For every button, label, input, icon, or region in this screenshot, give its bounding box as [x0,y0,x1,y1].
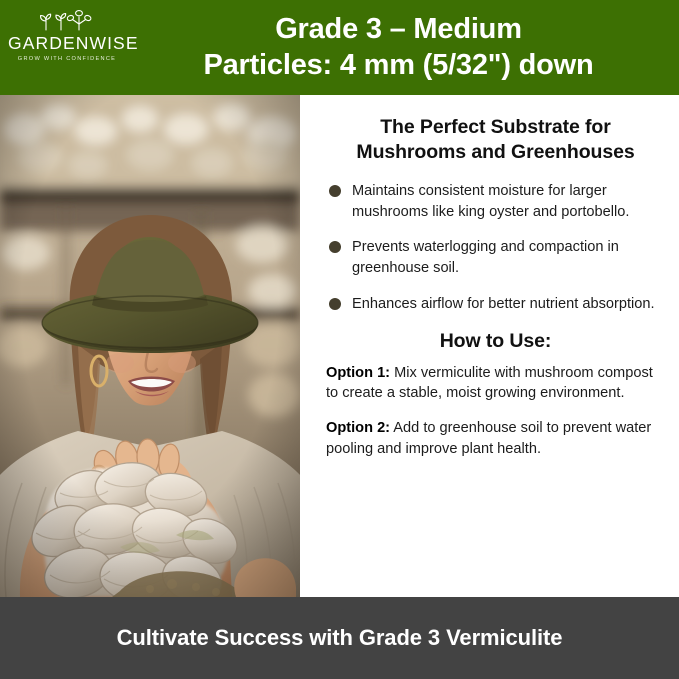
header-banner: GARDENWISE GROW WITH CONFIDENCE Grade 3 … [0,0,679,95]
bullet-dot-icon [329,185,341,197]
bullet-dot-icon [329,241,341,253]
bullet-dot-icon [329,298,341,310]
content-heading-line-1: The Perfect Substrate for [380,116,610,138]
main-content-area: The Perfect Substrate for Mushrooms and … [0,95,679,597]
option-1-label: Option 1: [326,365,390,381]
footer-tagline: Cultivate Success with Grade 3 Vermiculi… [117,625,563,651]
benefit-text: Enhances airflow for better nutrient abs… [352,296,655,312]
benefit-text: Maintains consistent moisture for larger… [352,183,629,220]
product-infographic: GARDENWISE GROW WITH CONFIDENCE Grade 3 … [0,0,679,679]
brand-name: GARDENWISE [8,35,126,53]
footer-banner: Cultivate Success with Grade 3 Vermiculi… [0,597,679,679]
brand-logo: GARDENWISE GROW WITH CONFIDENCE [8,8,126,62]
option-2: Option 2: Add to greenhouse soil to prev… [326,418,665,459]
content-heading: The Perfect Substrate for Mushrooms and … [326,115,665,165]
brand-tagline: GROW WITH CONFIDENCE [8,57,126,63]
header-title-line-1: Grade 3 – Medium [275,12,522,48]
header-title-line-2: Particles: 4 mm (5/32") down [203,48,593,84]
list-item: Prevents waterlogging and compaction in … [326,237,665,278]
list-item: Enhances airflow for better nutrient abs… [326,294,665,315]
list-item: Maintains consistent moisture for larger… [326,181,665,222]
option-2-label: Option 2: [326,420,390,436]
product-photo [0,95,302,597]
benefit-text: Prevents waterlogging and compaction in … [352,239,619,276]
how-to-use-heading: How to Use: [326,330,665,353]
content-heading-line-2: Mushrooms and Greenhouses [356,141,634,163]
header-title: Grade 3 – Medium Particles: 4 mm (5/32")… [128,0,669,95]
option-1: Option 1: Mix vermiculite with mushroom … [326,363,665,404]
benefits-list: Maintains consistent moisture for larger… [326,181,665,315]
three-sprouts-icon [36,8,98,32]
content-panel: The Perfect Substrate for Mushrooms and … [302,95,679,597]
